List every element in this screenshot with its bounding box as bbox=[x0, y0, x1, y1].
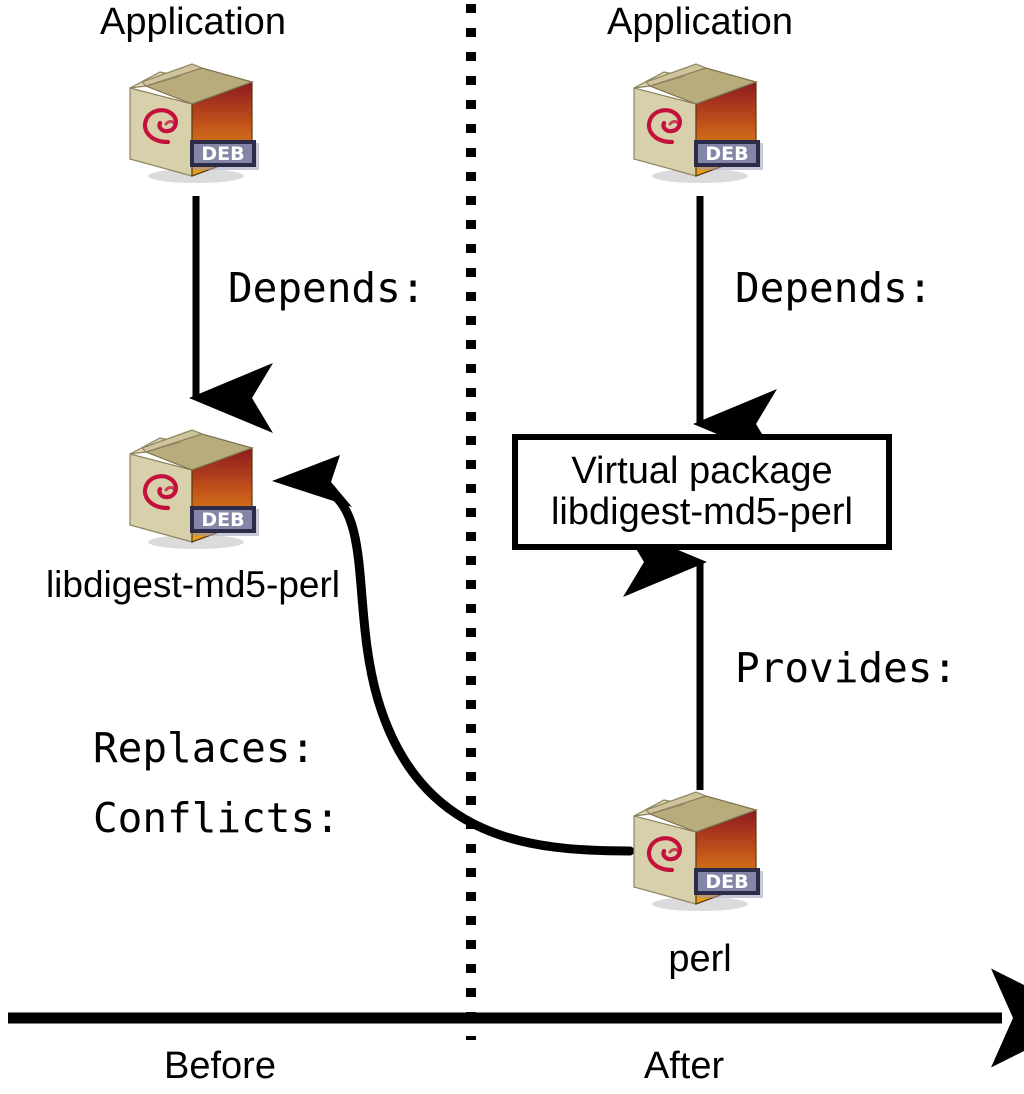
package-icon-application-before: DEB bbox=[120, 58, 270, 186]
timeline-label-after: After bbox=[644, 1047, 724, 1085]
svg-text:DEB: DEB bbox=[705, 143, 748, 165]
provides-label: Provides: bbox=[735, 648, 957, 689]
package-icon-application-after: DEB bbox=[624, 58, 774, 186]
deb-badge: DEB bbox=[694, 868, 763, 898]
package-icon-libdigest-md5-perl: DEB bbox=[120, 424, 270, 552]
deb-badge: DEB bbox=[190, 506, 259, 536]
virtual-package-line-1: Virtual package bbox=[571, 451, 832, 492]
svg-text:DEB: DEB bbox=[201, 509, 244, 531]
virtual-package-line-2: libdigest-md5-perl bbox=[551, 492, 853, 533]
svg-text:DEB: DEB bbox=[705, 871, 748, 893]
package-icon-perl: DEB bbox=[624, 786, 774, 914]
deb-badge: DEB bbox=[190, 140, 259, 170]
application-label-after: Application bbox=[607, 3, 793, 41]
replaces-label: Replaces: bbox=[93, 728, 315, 769]
svg-text:DEB: DEB bbox=[201, 143, 244, 165]
depends-label-after: Depends: bbox=[735, 268, 932, 309]
perl-label: perl bbox=[668, 940, 731, 978]
depends-label-before: Depends: bbox=[228, 268, 425, 309]
virtual-package-box: Virtual package libdigest-md5-perl bbox=[512, 434, 892, 550]
application-label-before: Application bbox=[100, 3, 286, 41]
libdigest-md5-perl-label: libdigest-md5-perl bbox=[46, 566, 340, 603]
deb-badge: DEB bbox=[694, 140, 763, 170]
conflicts-label: Conflicts: bbox=[93, 798, 340, 839]
timeline-label-before: Before bbox=[164, 1047, 276, 1085]
diagram-canvas: libdigest-md5-perl --> Virtual package b… bbox=[0, 0, 1024, 1094]
